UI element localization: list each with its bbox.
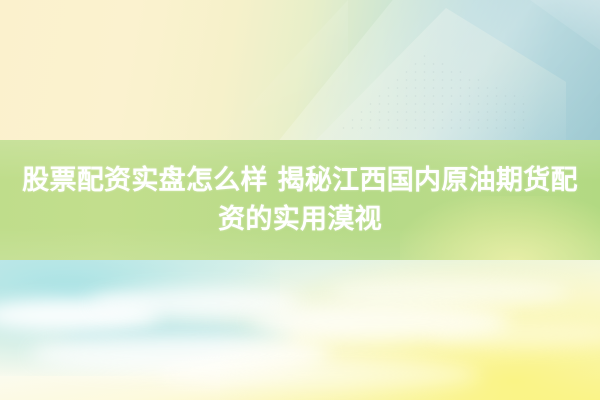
- bottom-sky-panel: [0, 260, 600, 400]
- cloud-shape: [30, 334, 330, 374]
- origami-facet-inner: [316, 8, 566, 140]
- cloud-shape: [330, 278, 570, 306]
- cloud-shape: [0, 298, 160, 332]
- texture-speckle-patch: [330, 52, 530, 134]
- sky-warm-wash: [220, 260, 600, 400]
- sky-cool-wash: [0, 260, 280, 376]
- origami-facet-corner: [530, 0, 600, 50]
- top-decorative-panel: [0, 0, 600, 140]
- cloud-shape: [160, 360, 480, 390]
- cloud-shape: [90, 288, 300, 318]
- origami-facet-left: [218, 0, 348, 140]
- banner-title-line-2: 的实用漠视: [245, 204, 382, 235]
- cloud-wisp: [60, 322, 290, 348]
- cloud-shape: [430, 322, 600, 348]
- article-banner: 股票配资实盘怎么样 揭秘江西国内原油期货配资的实用漠视: [0, 0, 600, 400]
- cloud-shape: [250, 304, 510, 340]
- origami-facet-main: [268, 0, 600, 140]
- banner-title: 股票配资实盘怎么样 揭秘江西国内原油期货配资的实用漠视: [20, 161, 580, 239]
- title-band: 股票配资实盘怎么样 揭秘江西国内原油期货配资的实用漠视: [0, 140, 600, 260]
